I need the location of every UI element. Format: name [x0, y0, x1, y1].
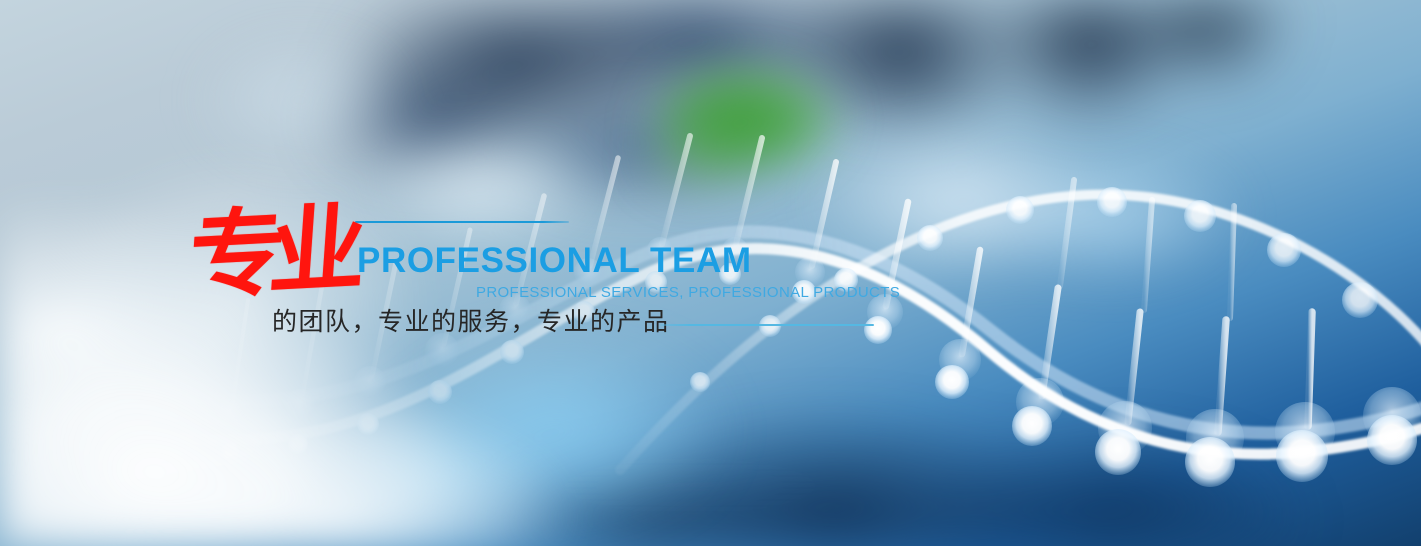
decorative-rule-bottom	[660, 324, 874, 326]
banner-chinese-tagline: 的团队，专业的服务，专业的产品	[272, 307, 670, 337]
banner-text-block: 专业 PROFESSIONAL TEAM PROFESSIONAL SERVIC…	[0, 0, 1421, 546]
banner-subheadline: PROFESSIONAL SERVICES, PROFESSIONAL PROD…	[476, 285, 900, 300]
banner-headline: PROFESSIONAL TEAM	[357, 243, 752, 278]
decorative-rule-top	[355, 221, 569, 223]
hero-banner: 专业 PROFESSIONAL TEAM PROFESSIONAL SERVIC…	[0, 0, 1421, 546]
